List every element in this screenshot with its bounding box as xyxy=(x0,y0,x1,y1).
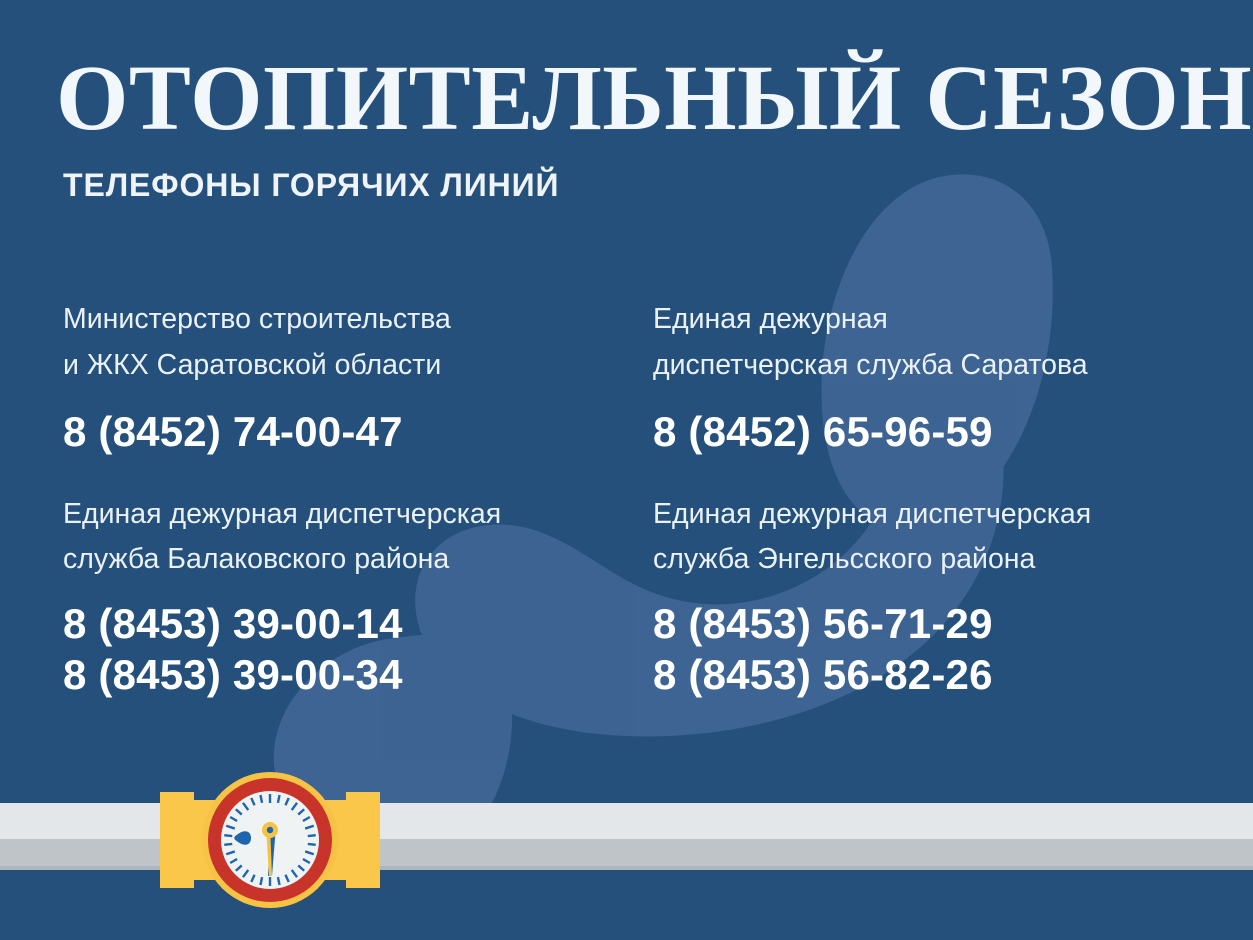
poster-header: ОТОПИТЕЛЬНЫЙ СЕЗОН ТЕЛЕФОНЫ ГОРЯЧИХ ЛИНИ… xyxy=(56,52,1216,201)
gauge-hub-center xyxy=(267,827,273,833)
contact-organization-name: Единая дежурная диспетчерская служба Бал… xyxy=(63,492,653,582)
phone-number[interactable]: 8 (8453) 39-00-34 xyxy=(63,649,653,700)
contact-block-engels: Единая дежурная диспетчерская служба Энг… xyxy=(653,492,1193,701)
phone-list: 8 (8453) 56-71-29 8 (8453) 56-82-26 xyxy=(653,598,1193,700)
page-title: ОТОПИТЕЛЬНЫЙ СЕЗОН xyxy=(56,52,1216,145)
pressure-gauge-icon xyxy=(150,770,390,910)
infographic-poster: ОТОПИТЕЛЬНЫЙ СЕЗОН ТЕЛЕФОНЫ ГОРЯЧИХ ЛИНИ… xyxy=(0,0,1253,940)
page-subtitle: ТЕЛЕФОНЫ ГОРЯЧИХ ЛИНИЙ xyxy=(63,169,1216,201)
contact-organization-name: Министерство строительства и ЖКХ Саратов… xyxy=(63,296,653,388)
contact-organization-name: Единая дежурная диспетчерская служба Сар… xyxy=(653,296,1193,388)
contacts-grid: Министерство строительства и ЖКХ Саратов… xyxy=(63,296,1193,700)
phone-number[interactable]: 8 (8453) 39-00-14 xyxy=(63,598,653,649)
phone-number[interactable]: 8 (8452) 65-96-59 xyxy=(653,406,1193,457)
contact-block-balakovo: Единая дежурная диспетчерская служба Бал… xyxy=(63,492,653,701)
phone-list: 8 (8453) 39-00-14 8 (8453) 39-00-34 xyxy=(63,598,653,700)
phone-number[interactable]: 8 (8453) 56-71-29 xyxy=(653,598,1193,649)
phone-number[interactable]: 8 (8452) 74-00-47 xyxy=(63,406,653,457)
contact-block-ministry: Министерство строительства и ЖКХ Саратов… xyxy=(63,296,653,458)
phone-number[interactable]: 8 (8453) 56-82-26 xyxy=(653,649,1193,700)
phone-list: 8 (8452) 65-96-59 xyxy=(653,406,1193,457)
phone-list: 8 (8452) 74-00-47 xyxy=(63,406,653,457)
contact-organization-name: Единая дежурная диспетчерская служба Энг… xyxy=(653,492,1193,582)
contact-block-saratov: Единая дежурная диспетчерская служба Сар… xyxy=(653,296,1193,458)
